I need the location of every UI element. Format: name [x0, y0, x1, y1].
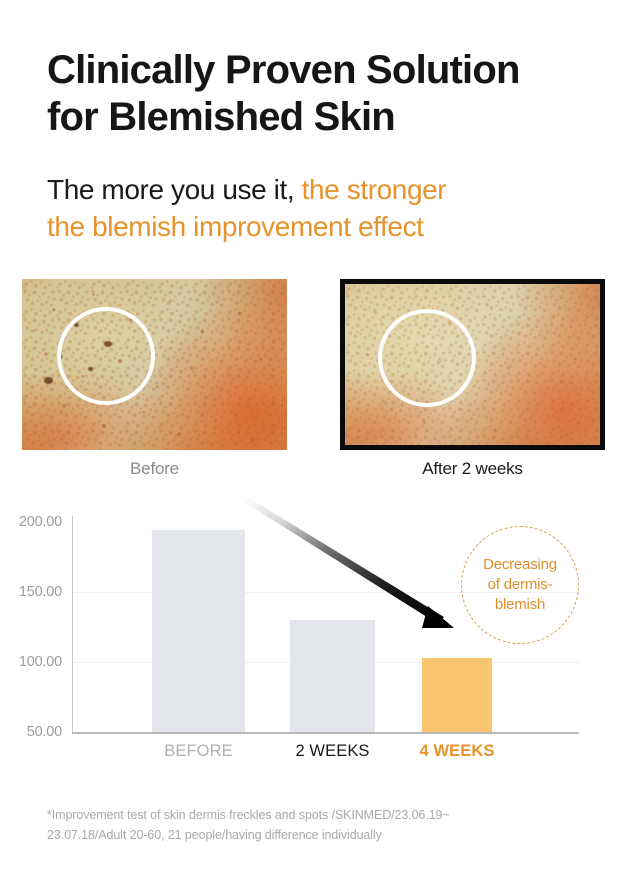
subheadline-plain: The more you use it, [47, 174, 294, 205]
x-label-before: BEFORE [152, 742, 245, 761]
bar-4weeks [422, 658, 492, 732]
before-after-comparison [0, 279, 628, 451]
annotation-text: Decreasing of dermis- blemish [477, 555, 563, 615]
x-label-2weeks: 2 WEEKS [283, 742, 382, 761]
bar-2weeks [290, 620, 375, 732]
play-triangle-icon [305, 633, 320, 653]
footnote: *Improvement test of skin dermis freckle… [47, 805, 577, 846]
after-photo [340, 279, 605, 450]
before-caption: Before [22, 459, 287, 479]
subheadline: The more you use it, the stronger the bl… [47, 172, 567, 246]
downward-trend-arrow [230, 496, 470, 641]
after-caption: After 2 weeks [340, 459, 605, 479]
footnote-line-1: *Improvement test of skin dermis freckle… [47, 805, 577, 825]
page-title: Clinically Proven Solution for Blemished… [47, 47, 592, 141]
annotation-circle: Decreasing of dermis- blemish [461, 526, 579, 644]
gridline-100 [73, 662, 579, 663]
annotation-line-2: of dermis- [488, 576, 553, 593]
subheadline-accent-2: the blemish improvement effect [47, 211, 424, 242]
focus-circle-overlay [378, 309, 476, 407]
footnote-line-2: 23.07.18/Adult 20-60, 21 people/having d… [47, 825, 577, 845]
bar-before [152, 530, 245, 732]
headline-line-2: for Blemished Skin [47, 94, 592, 141]
y-axis-line [72, 516, 73, 733]
annotation-line-1: Decreasing [483, 556, 557, 573]
subheadline-accent-1: the stronger [294, 174, 446, 205]
dark-spot [44, 377, 53, 384]
before-photo [22, 279, 287, 450]
focus-circle-overlay [57, 307, 155, 405]
y-tick-label: 100.00 [0, 654, 62, 670]
y-tick-label: 150.00 [0, 584, 62, 600]
y-tick-label: 50.00 [0, 724, 62, 740]
annotation-line-3: blemish [495, 596, 545, 613]
y-tick-label: 200.00 [0, 514, 62, 530]
x-axis-line [72, 732, 579, 734]
headline-line-1: Clinically Proven Solution [47, 47, 592, 94]
gridline-150 [73, 592, 579, 593]
x-label-4weeks: 4 WEEKS [405, 742, 509, 761]
